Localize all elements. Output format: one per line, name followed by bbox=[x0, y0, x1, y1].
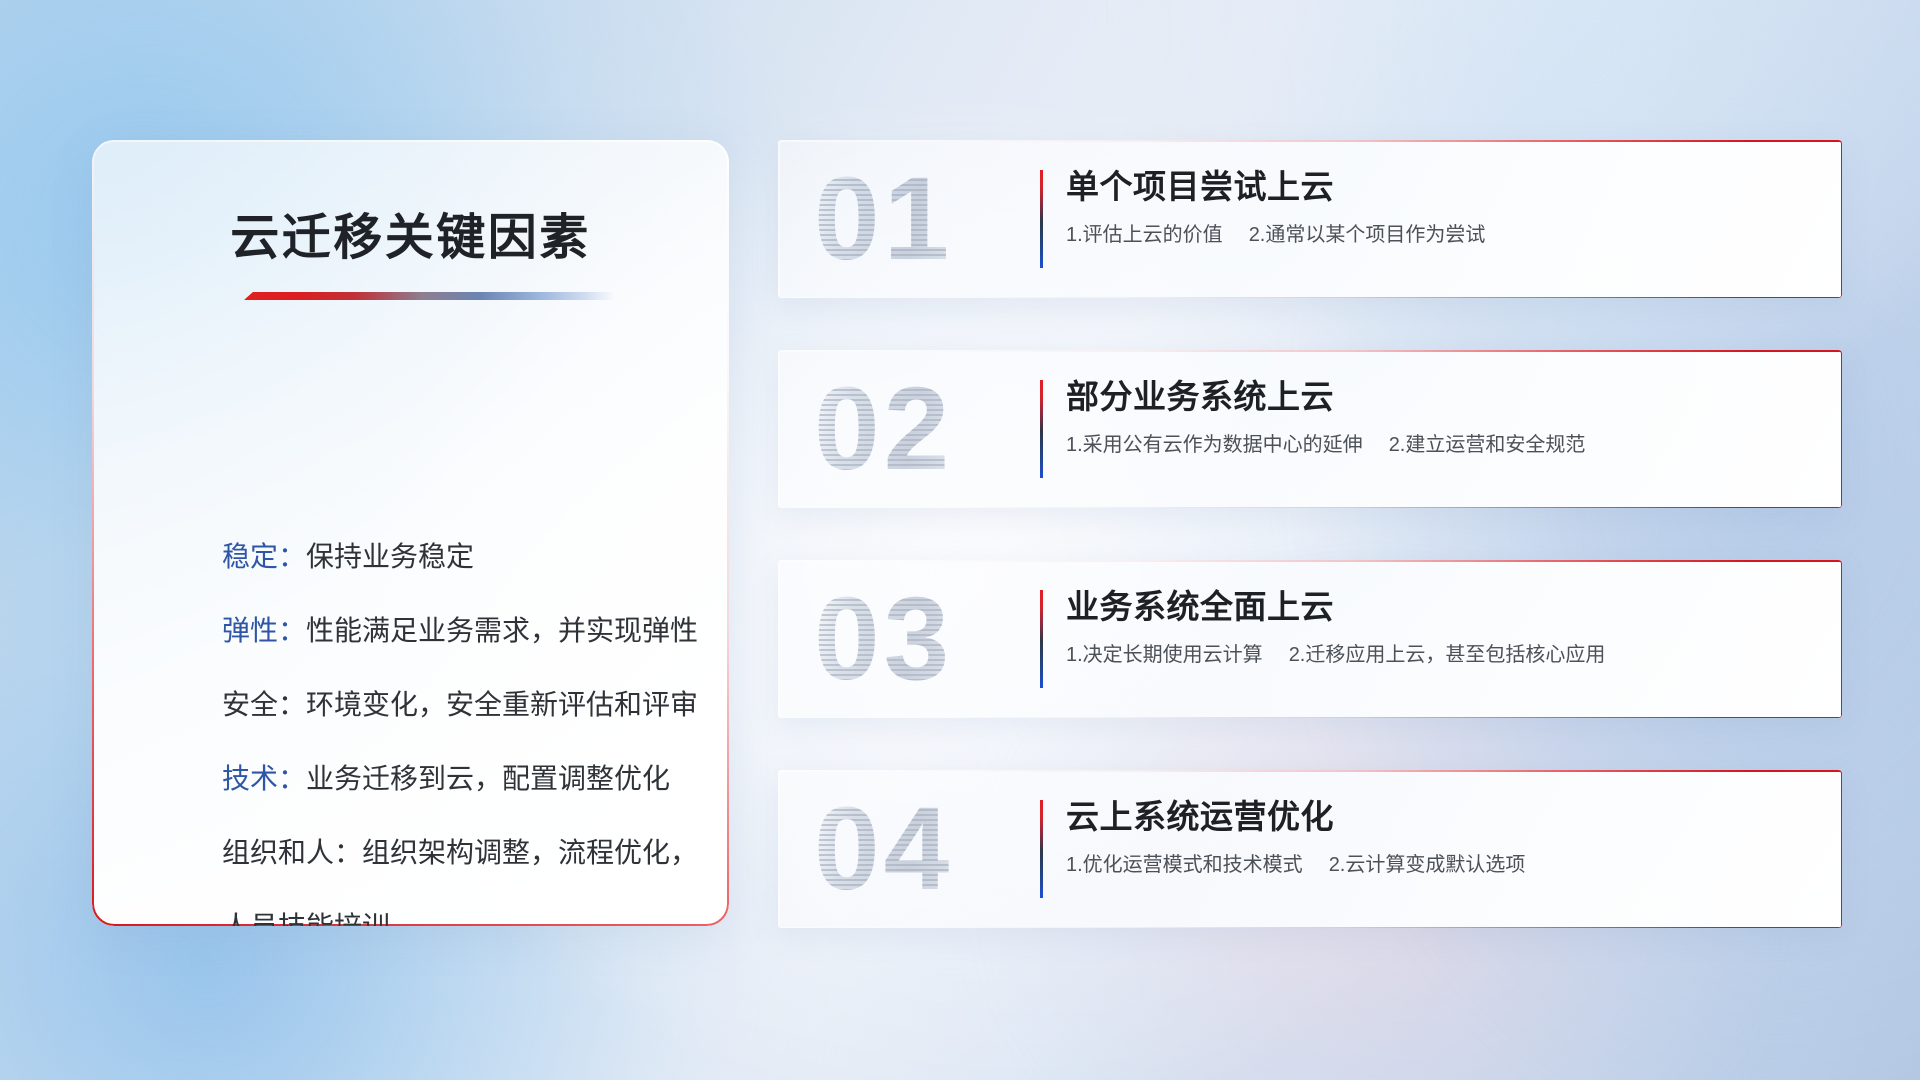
stage-point-03-2: 2.迁移应用上云，甚至包括核心应用 bbox=[1289, 644, 1606, 666]
factor-value-security: 环境变化，安全重新评估和评审 bbox=[306, 689, 698, 720]
stage-card-02-text: 部分业务系统上云 1.采用公有云作为数据中心的延伸2.建立运营和安全规范 bbox=[1066, 374, 1802, 460]
stage-description-03: 1.决定长期使用云计算2.迁移应用上云，甚至包括核心应用 bbox=[1066, 640, 1802, 670]
factor-item-organization-continued: 人员技能培训 bbox=[222, 890, 681, 926]
stage-description-02: 1.采用公有云作为数据中心的延伸2.建立运营和安全规范 bbox=[1066, 430, 1802, 460]
stage-card-03-text: 业务系统全面上云 1.决定长期使用云计算2.迁移应用上云，甚至包括核心应用 bbox=[1066, 584, 1802, 670]
stage-title-01: 单个项目尝试上云 bbox=[1066, 164, 1802, 210]
stage-accent-bar-01 bbox=[1040, 170, 1043, 268]
factor-value-stability: 保持业务稳定 bbox=[306, 541, 474, 572]
stage-number-03: 03 bbox=[814, 577, 1034, 701]
stage-point-04-2: 2.云计算变成默认选项 bbox=[1329, 854, 1526, 876]
stage-description-04: 1.优化运营模式和技术模式2.云计算变成默认选项 bbox=[1066, 850, 1802, 880]
stage-number-04: 04 bbox=[814, 787, 1034, 911]
stage-point-04-1: 1.优化运营模式和技术模式 bbox=[1066, 854, 1303, 876]
title-underline-rule bbox=[244, 292, 614, 300]
factor-value-organization: 组织架构调整，流程优化， bbox=[362, 837, 698, 868]
stage-accent-bar-03 bbox=[1040, 590, 1043, 688]
factor-list: 稳定：保持业务稳定 弹性：性能满足业务需求，并实现弹性 安全：环境变化，安全重新… bbox=[222, 520, 681, 926]
stage-accent-bar-04 bbox=[1040, 800, 1043, 898]
stage-accent-bar-02 bbox=[1040, 380, 1043, 478]
stage-title-02: 部分业务系统上云 bbox=[1066, 374, 1802, 420]
stage-point-02-1: 1.采用公有云作为数据中心的延伸 bbox=[1066, 434, 1363, 456]
stage-point-02-2: 2.建立运营和安全规范 bbox=[1389, 434, 1586, 456]
factor-value-elasticity: 性能满足业务需求，并实现弹性 bbox=[306, 615, 698, 646]
factor-label-technology: 技术： bbox=[222, 763, 306, 794]
stage-card-04[interactable]: 04 云上系统运营优化 1.优化运营模式和技术模式2.云计算变成默认选项 bbox=[778, 770, 1842, 928]
stage-point-03-1: 1.决定长期使用云计算 bbox=[1066, 644, 1263, 666]
stage-title-03: 业务系统全面上云 bbox=[1066, 584, 1802, 630]
stage-title-04: 云上系统运营优化 bbox=[1066, 794, 1802, 840]
factor-item-organization: 组织和人：组织架构调整，流程优化， bbox=[222, 816, 681, 890]
stage-card-01-text: 单个项目尝试上云 1.评估上云的价值2.通常以某个项目作为尝试 bbox=[1066, 164, 1802, 250]
factor-label-organization: 组织和人： bbox=[222, 837, 362, 868]
stage-card-01[interactable]: 01 单个项目尝试上云 1.评估上云的价值2.通常以某个项目作为尝试 bbox=[778, 140, 1842, 298]
factor-item-security: 安全：环境变化，安全重新评估和评审 bbox=[222, 668, 681, 742]
factor-label-security: 安全： bbox=[222, 689, 306, 720]
stage-card-03[interactable]: 03 业务系统全面上云 1.决定长期使用云计算2.迁移应用上云，甚至包括核心应用 bbox=[778, 560, 1842, 718]
factor-value-technology: 业务迁移到云，配置调整优化 bbox=[306, 763, 670, 794]
factor-item-stability: 稳定：保持业务稳定 bbox=[222, 520, 681, 594]
stage-point-01-1: 1.评估上云的价值 bbox=[1066, 224, 1223, 246]
stage-number-01: 01 bbox=[814, 157, 1034, 281]
stage-card-02[interactable]: 02 部分业务系统上云 1.采用公有云作为数据中心的延伸2.建立运营和安全规范 bbox=[778, 350, 1842, 508]
factor-item-elasticity: 弹性：性能满足业务需求，并实现弹性 bbox=[222, 594, 681, 668]
factor-label-elasticity: 弹性： bbox=[222, 615, 306, 646]
factor-item-technology: 技术：业务迁移到云，配置调整优化 bbox=[222, 742, 681, 816]
key-factors-panel: 云迁移关键因素 稳定：保持业务稳定 弹性：性能满足业务需求，并实现弹性 安全：环… bbox=[92, 140, 729, 926]
factor-value-organization-continued: 人员技能培训 bbox=[222, 911, 390, 926]
key-factors-panel-content: 云迁移关键因素 稳定：保持业务稳定 弹性：性能满足业务需求，并实现弹性 安全：环… bbox=[92, 140, 729, 926]
page-title: 云迁移关键因素 bbox=[92, 198, 729, 269]
slide-stage: 云迁移关键因素 稳定：保持业务稳定 弹性：性能满足业务需求，并实现弹性 安全：环… bbox=[0, 0, 1920, 1080]
factor-label-stability: 稳定： bbox=[222, 541, 306, 572]
stage-description-01: 1.评估上云的价值2.通常以某个项目作为尝试 bbox=[1066, 220, 1802, 250]
stage-point-01-2: 2.通常以某个项目作为尝试 bbox=[1249, 224, 1486, 246]
stage-number-02: 02 bbox=[814, 367, 1034, 491]
stage-card-04-text: 云上系统运营优化 1.优化运营模式和技术模式2.云计算变成默认选项 bbox=[1066, 794, 1802, 880]
